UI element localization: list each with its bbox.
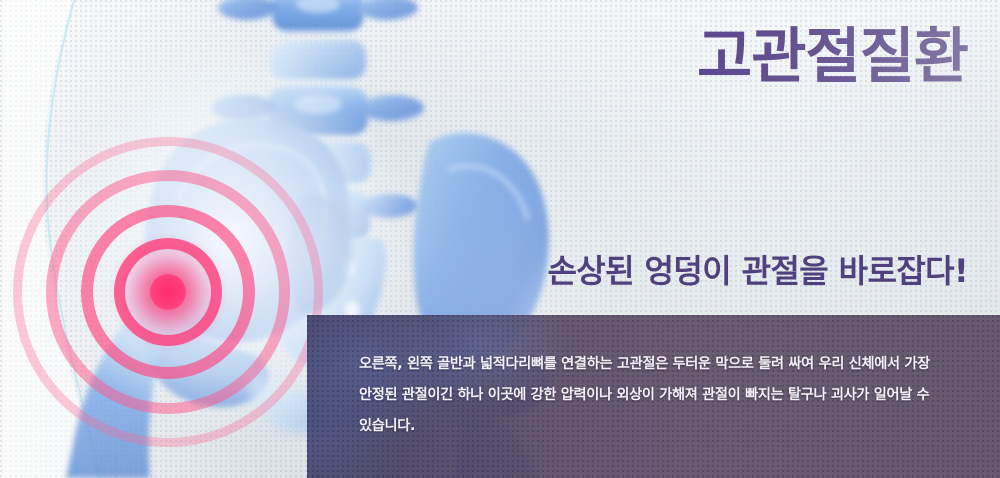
description-text: 오른쪽, 왼쪽 골반과 넓적다리뼈를 연결하는 고관절은 두터운 막으로 둘려 …	[359, 349, 978, 442]
description-line-2: 안정된 관절이긴 하나 이곳에 강한 압력이나 외상이 가해져 관절이 빠지는 …	[359, 380, 978, 411]
description-panel: 오른쪽, 왼쪽 골반과 넓적다리뼈를 연결하는 고관절은 두터운 막으로 둘려 …	[307, 315, 1000, 478]
description-line-3: 있습니다.	[359, 411, 978, 442]
description-line-1: 오른쪽, 왼쪽 골반과 넓적다리뼈를 연결하는 고관절은 두터운 막으로 둘려 …	[359, 349, 978, 380]
banner-subtitle: 손상된 엉덩이 관절을 바로잡다!	[547, 246, 968, 292]
pain-epicenter	[150, 274, 186, 310]
hip-disease-banner: 고관절질환 손상된 엉덩이 관절을 바로잡다! 오른쪽, 왼쪽 골반과 넓적다리…	[0, 0, 1000, 478]
page-title: 고관절질환	[697, 24, 968, 91]
